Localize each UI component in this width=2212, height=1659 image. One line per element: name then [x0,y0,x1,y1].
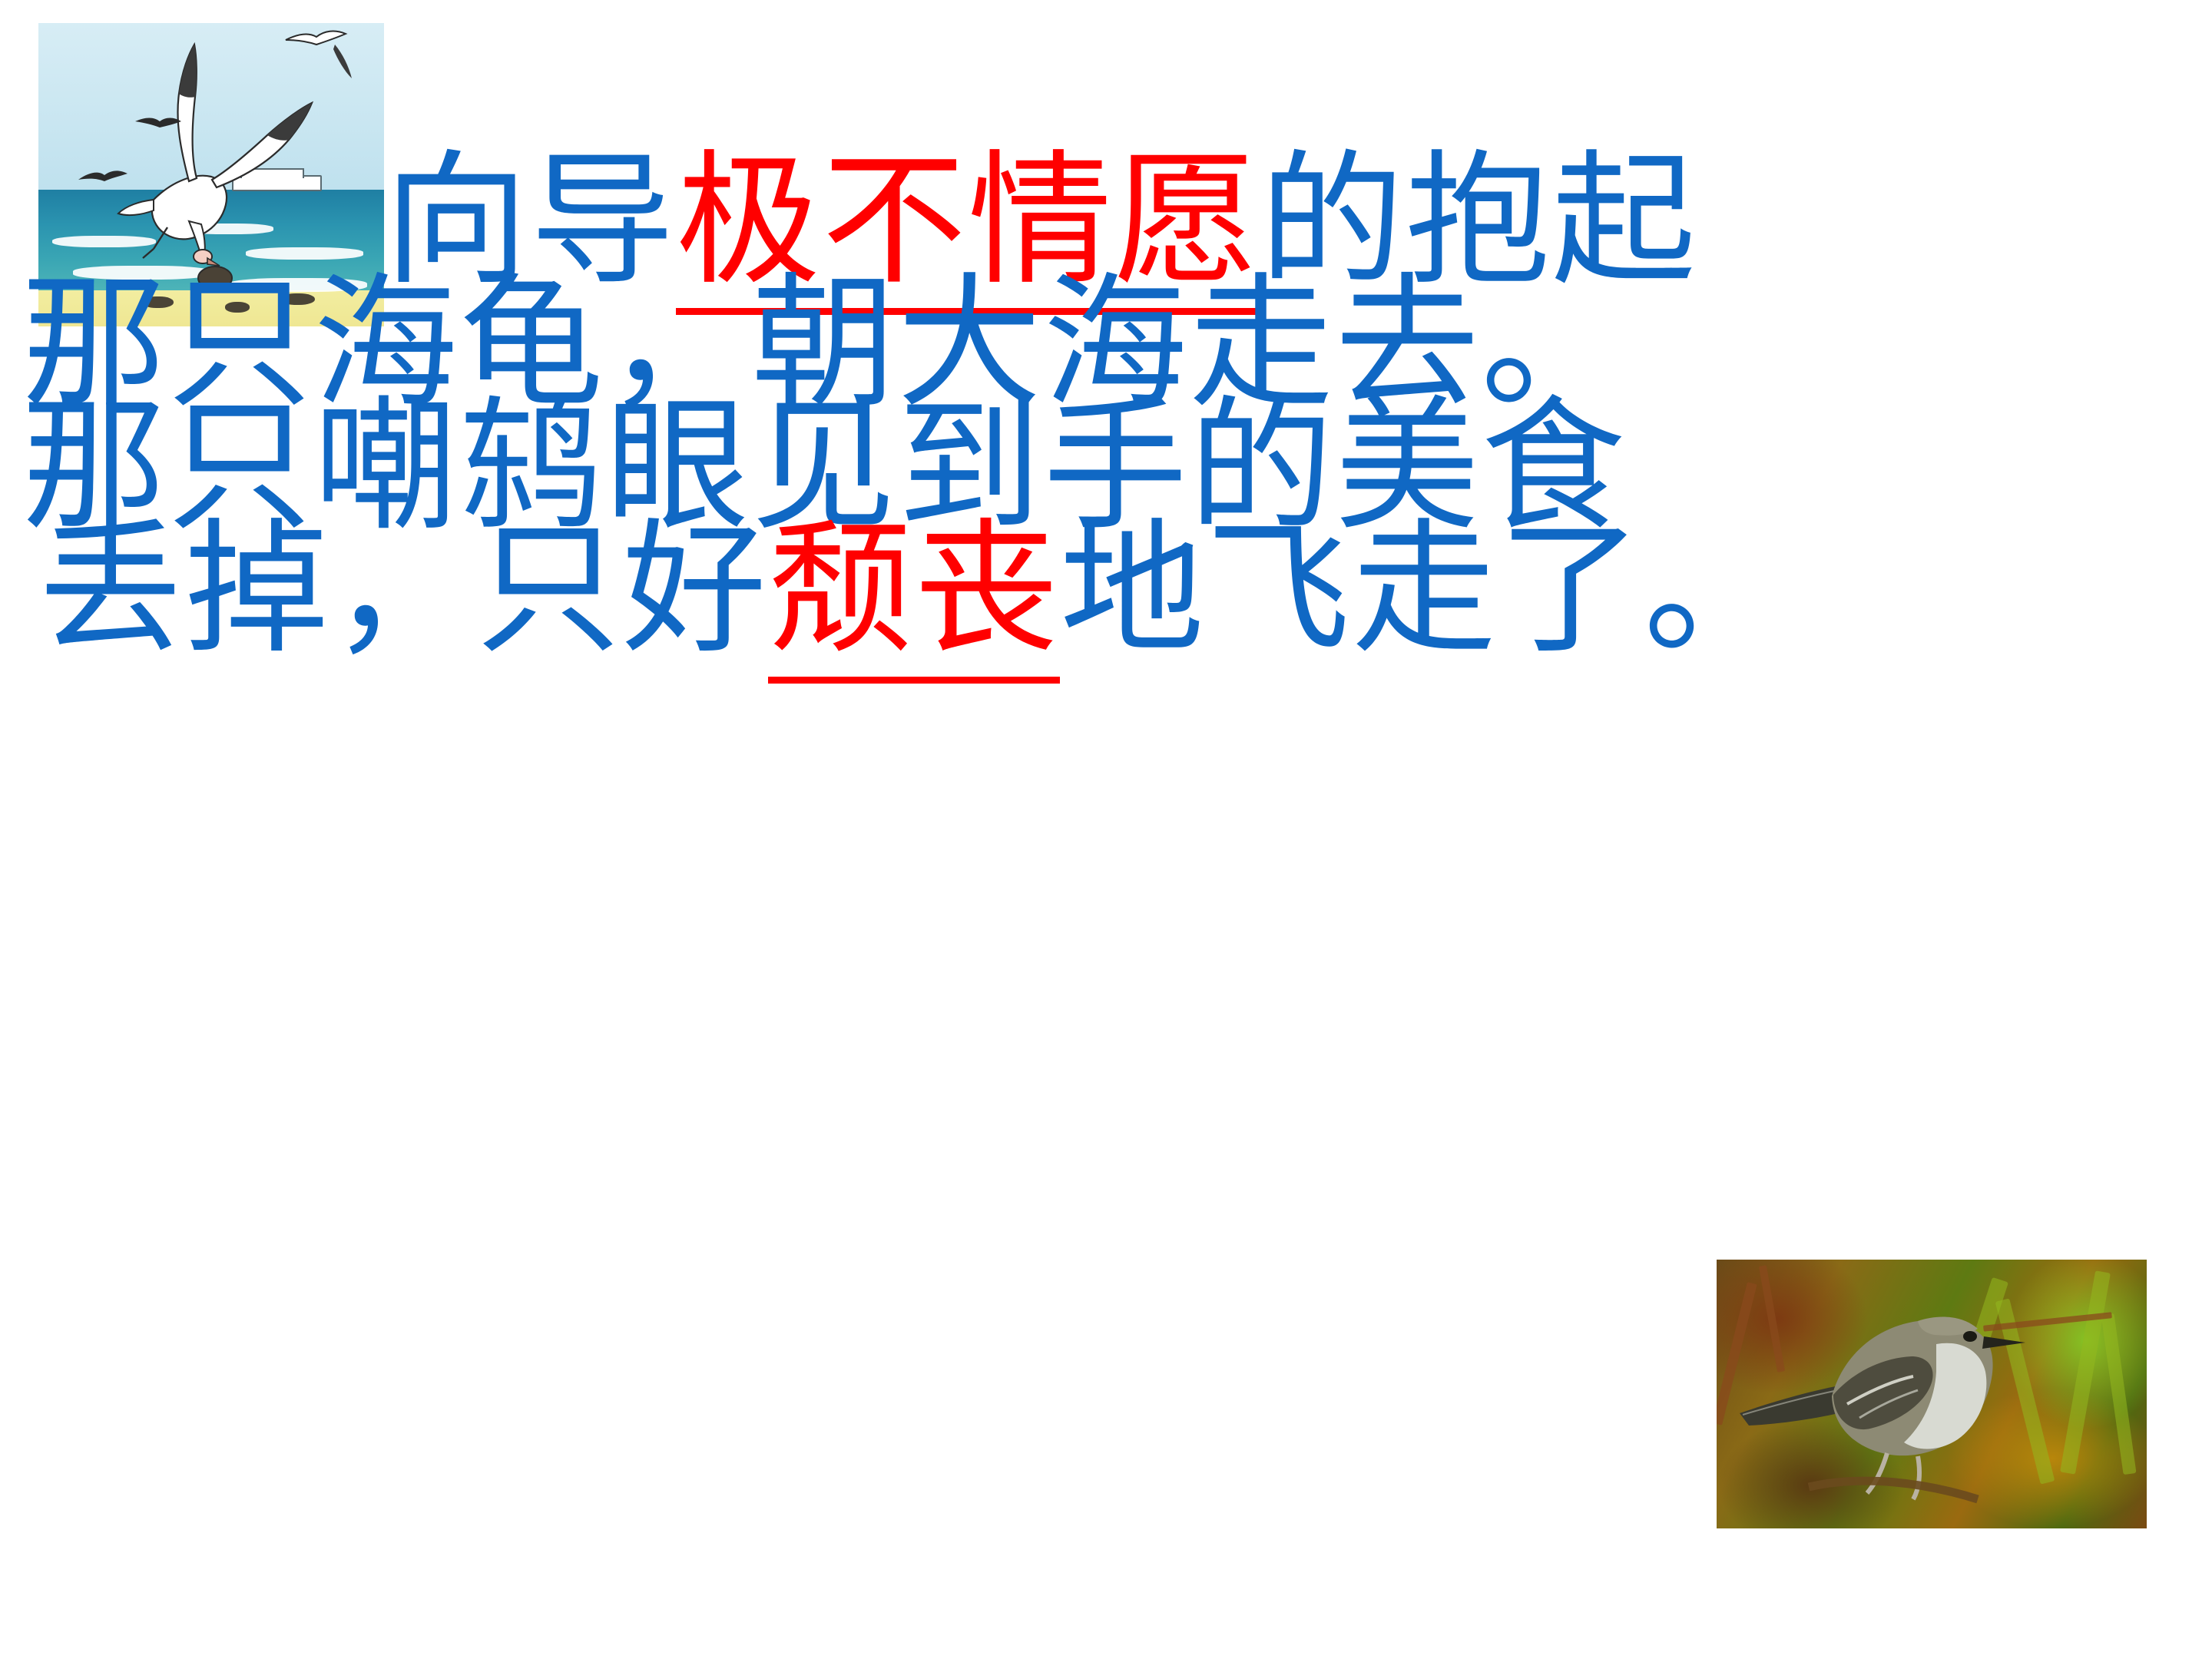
passage-text: 向导极不情愿的抱起 那只海龟，朝大海走去。 那只嘲鸫眼见到手的美食 丢掉，只好颓… [15,160,2197,651]
slide-canvas: 向导极不情愿的抱起 那只海龟，朝大海走去。 那只嘲鸫眼见到手的美食 丢掉，只好颓… [0,0,2212,1659]
line4-segment-blue-1: 丢掉，只好 [38,505,768,674]
line4-segment-blue-2: 地飞走了。 [1060,505,1790,674]
mockingbird-photo [1717,1260,2147,1528]
passage-line-4: 丢掉，只好颓丧地飞走了。 [15,528,2197,651]
mockingbird-drawing [1717,1260,2147,1528]
line4-segment-emphasis: 颓丧 [768,505,1060,684]
